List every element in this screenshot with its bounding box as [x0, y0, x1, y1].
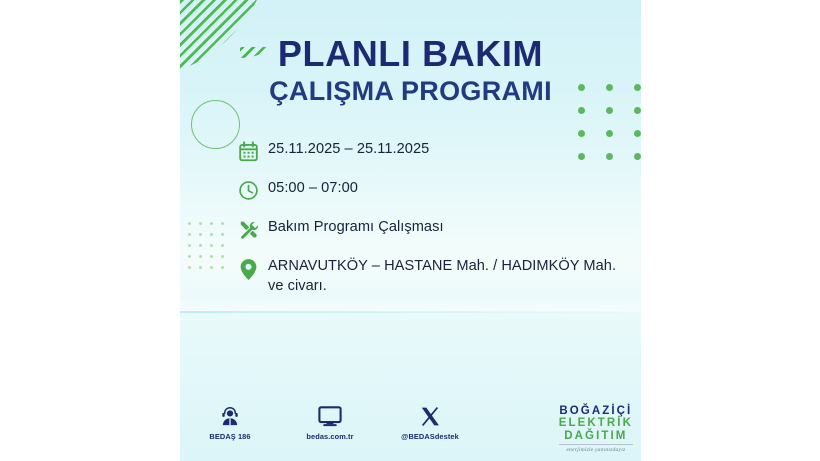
logo-line-bogazici: BOĞAZİÇİ [559, 405, 633, 417]
detail-row-work-type: Bakım Programı Çalışması [238, 218, 630, 244]
dot [188, 255, 191, 258]
detail-row-date: 25.11.2025 – 25.11.2025 [238, 140, 630, 166]
clock-icon [238, 179, 268, 205]
dot [188, 222, 191, 225]
contact-channels: BEDAŞ 186 bedas.com.tr [194, 401, 466, 441]
dot [188, 266, 191, 269]
contact-phone-label: BEDAŞ 186 [194, 432, 266, 441]
logo-line-elektrik: ELEKTRİK [559, 417, 633, 429]
dot [210, 233, 213, 236]
monitor-icon [294, 401, 366, 427]
bedas-logo: BOĞAZİÇİ ELEKTRİK DAĞITIM enerjimizle ya… [559, 405, 633, 453]
dot [199, 244, 202, 247]
dot [199, 233, 202, 236]
poster-footer: BEDAŞ 186 bedas.com.tr [180, 401, 641, 455]
dot [210, 244, 213, 247]
location-pin-icon [238, 257, 268, 283]
detail-location-text: ARNAVUTKÖY – HASTANE Mah. / HADIMKÖY Mah… [268, 257, 628, 297]
dot [199, 266, 202, 269]
dot [221, 244, 224, 247]
dot [188, 233, 191, 236]
page-canvas: PLANLI BAKIM ÇALIŞMA PROGRAMI [0, 0, 820, 461]
contact-website-label: bedas.com.tr [294, 432, 366, 441]
tools-icon [238, 218, 268, 244]
dot [634, 130, 641, 137]
panel-seam-glow [180, 296, 641, 312]
page-title: PLANLI BAKIM [180, 36, 641, 73]
support-agent-icon [194, 401, 266, 427]
maintenance-details-list: 25.11.2025 – 25.11.2025 05:00 – 07:00 [238, 140, 630, 297]
calendar-icon [238, 140, 268, 166]
contact-website[interactable]: bedas.com.tr [294, 401, 366, 441]
dot [210, 222, 213, 225]
x-twitter-icon [394, 401, 466, 427]
contact-twitter-label: @BEDASdestek [394, 432, 466, 441]
dot [606, 130, 613, 137]
planned-maintenance-poster: PLANLI BAKIM ÇALIŞMA PROGRAMI [180, 0, 641, 461]
logo-tagline: enerjimizle yanınızdayız [559, 444, 633, 453]
panel-seam-line [180, 311, 641, 313]
dot [188, 244, 191, 247]
dot [210, 255, 213, 258]
dot [221, 222, 224, 225]
dot [578, 130, 585, 137]
detail-work-type-text: Bakım Programı Çalışması [268, 218, 444, 238]
dot [221, 266, 224, 269]
poster-headings: PLANLI BAKIM ÇALIŞMA PROGRAMI [180, 36, 641, 108]
dot [199, 222, 202, 225]
detail-row-location: ARNAVUTKÖY – HASTANE Mah. / HADIMKÖY Mah… [238, 257, 630, 297]
detail-date-text: 25.11.2025 – 25.11.2025 [268, 140, 429, 160]
dot [221, 233, 224, 236]
logo-line-dagitim: DAĞITIM [559, 430, 633, 442]
dot [634, 153, 641, 160]
detail-row-time: 05:00 – 07:00 [238, 179, 630, 205]
detail-time-text: 05:00 – 07:00 [268, 179, 358, 199]
dot [221, 255, 224, 258]
dot-grid-left-decoration [188, 222, 232, 277]
contact-phone[interactable]: BEDAŞ 186 [194, 401, 266, 441]
page-subtitle: ÇALIŞMA PROGRAMI [180, 75, 641, 109]
contact-twitter[interactable]: @BEDASdestek [394, 401, 466, 441]
dot [210, 266, 213, 269]
dot [199, 255, 202, 258]
